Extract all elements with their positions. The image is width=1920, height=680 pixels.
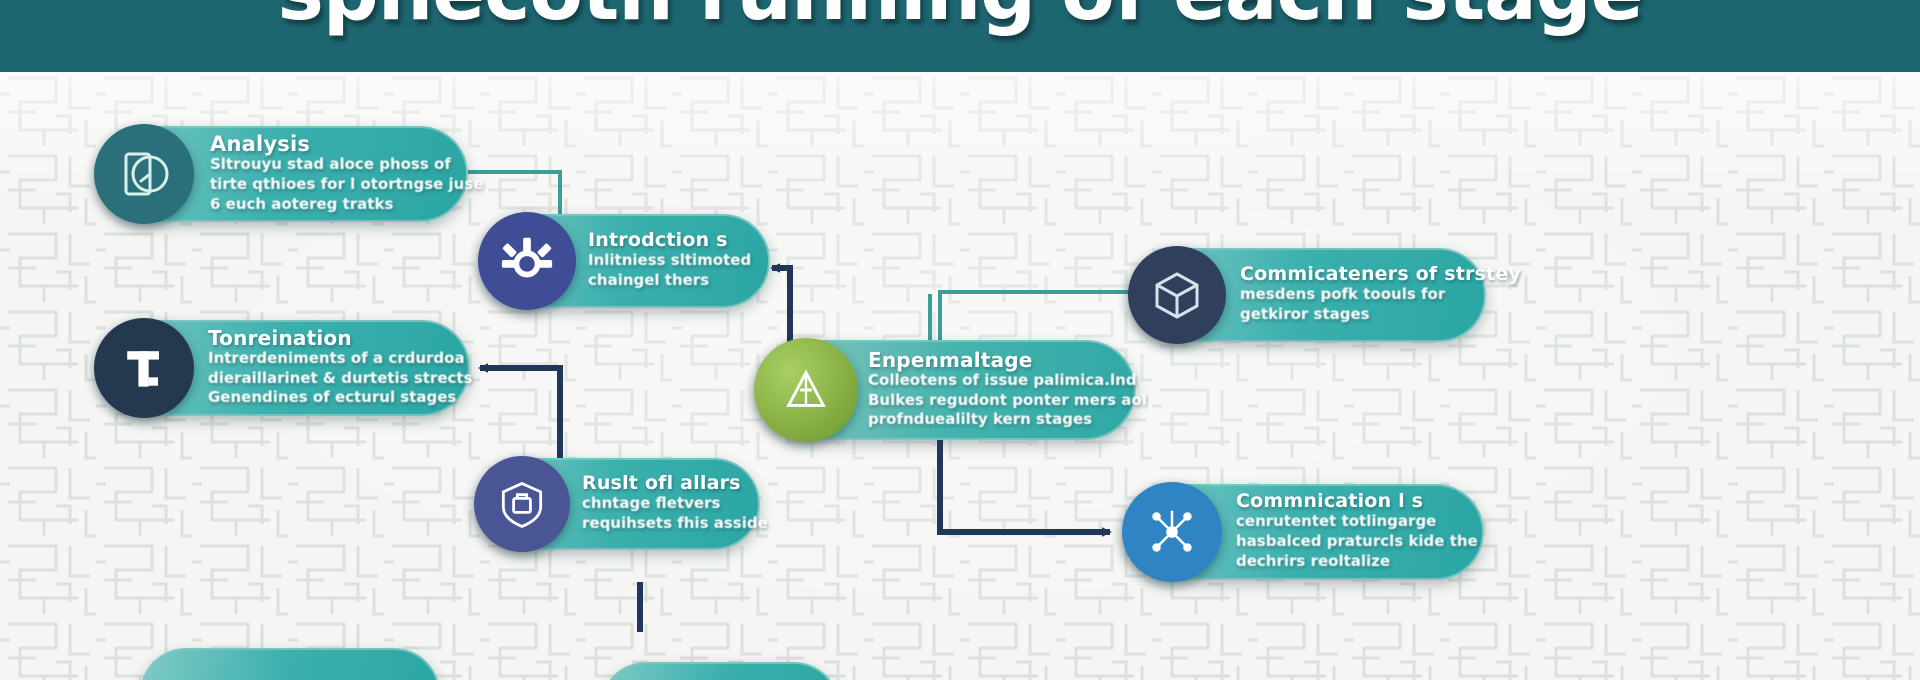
node-bottom-left-partial[interactable] [140,648,440,680]
node-result-line-2: requihsets fhis asside [582,514,760,534]
node-termination-line-1: Intrerdeniments of a crdurdoa [208,349,464,369]
node-introduction[interactable]: Introdction s Inlitniess sltimoted chain… [480,214,770,308]
node-analysis-line-3: 6 euch aotereg tratks [210,195,460,215]
header-band: sphecoth running of each stage [0,0,1920,72]
node-bottom-center-partial[interactable] [600,662,840,680]
page-title: sphecoth running of each stage [0,0,1920,38]
wire-empennaltage-to-communication [940,432,1110,532]
node-empennaltage-title: Enpenmaltage [868,350,1132,371]
node-introduction-line-1: Inlitniess sltimoted [588,251,768,271]
letter-t-icon [94,318,194,418]
document-clock-icon [94,124,194,224]
gear-icon [478,212,576,310]
shield-bag-icon [474,456,570,552]
triangle-chart-icon [754,338,858,442]
node-empennaltage-line-3: profnduealilty kern stages [868,410,1132,430]
node-termination-line-2: dieraillarinet & durtetis strects [208,369,464,389]
node-communication-title: Commnication l s [1236,492,1484,512]
cube-icon [1128,246,1226,344]
node-analysis-line-2: tirte qthioes for l otortngse juse [210,175,460,195]
node-termination-title: Tonreination [208,328,464,349]
node-empennaltage-line-2: Bulkes regudont ponter mers aol [868,391,1132,411]
node-introduction-line-2: chaingel thers [588,271,768,291]
node-empennaltage-line-1: Colleotens of issue palimica.lnd [868,371,1132,391]
node-analysis-title: Analysis [210,133,460,155]
infographic-root: Analysis Sltrouyu stad aloce phoss of ti… [0,0,1920,680]
node-result-title: Ruslt ofl allars [582,474,760,494]
node-analysis-line-1: Sltrouyu stad aloce phoss of [210,155,460,175]
node-communication-line-3: dechrirs reoltalize [1236,552,1484,572]
network-nodes-icon [1122,482,1222,582]
node-communication[interactable]: Commnication l s cenrutentet totlingarge… [1124,484,1484,580]
node-termination[interactable]: Tonreination Intrerdeniments of a crdurd… [98,320,470,416]
node-commicateners-line-1: mesdens pofk toouls for [1240,285,1484,305]
node-bottom-center-background [600,662,840,680]
node-introduction-title: Introdction s [588,231,768,251]
node-commicateners-title: Commicateners of strstey [1240,265,1484,285]
node-bottom-left-background [140,648,440,680]
node-commicateners[interactable]: Commicateners of strstey mesdens pofk to… [1130,248,1486,342]
node-analysis[interactable]: Analysis Sltrouyu stad aloce phoss of ti… [98,126,468,222]
node-empennaltage[interactable]: Enpenmaltage Colleotens of issue palimic… [756,340,1136,440]
node-result[interactable]: Ruslt ofl allars chntage fletvers requih… [476,458,760,550]
node-termination-line-3: Genendines of ecturul stages [208,388,464,408]
node-communication-line-2: hasbalced praturcls kide the [1236,532,1484,552]
node-commicateners-line-2: getkiror stages [1240,305,1484,325]
node-communication-line-1: cenrutentet totlingarge [1236,512,1484,532]
node-result-line-1: chntage fletvers [582,494,760,514]
diagram-canvas: Analysis Sltrouyu stad aloce phoss of ti… [0,72,1920,680]
